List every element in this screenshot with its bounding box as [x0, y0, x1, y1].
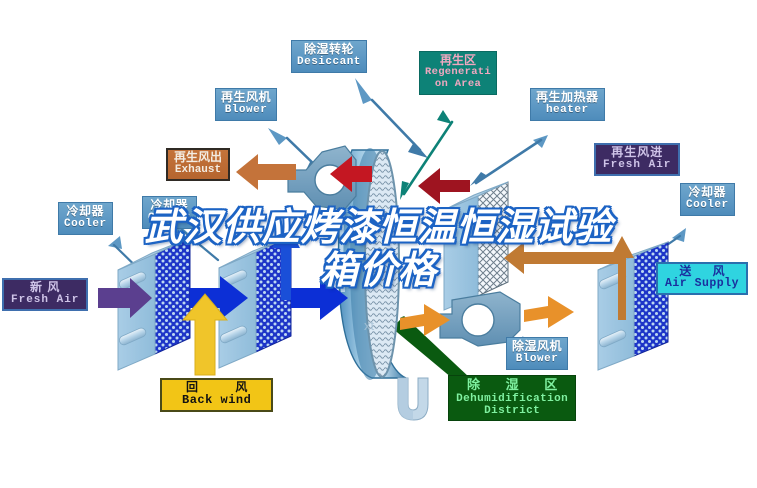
- wheel-watermark: xt: [364, 318, 375, 333]
- arrow-dehumid-blower-to-cooler3: [524, 296, 574, 328]
- label-dehumidification-district[interactable]: 除 湿 区 Dehumidification District: [448, 375, 576, 421]
- label-dehumidification-blower-cn: 除湿风机: [512, 340, 562, 353]
- label-regeneration-blower[interactable]: 再生风机 Blower: [215, 88, 277, 121]
- label-back-wind-cn: 回 风: [169, 381, 264, 394]
- label-regeneration-fresh-air[interactable]: 再生风进 Fresh Air: [594, 143, 680, 176]
- label-regeneration-exhaust-en: Exhaust: [174, 164, 222, 176]
- label-cooler-right[interactable]: 冷却器 Cooler: [680, 183, 735, 216]
- label-cooler-mid-en: Cooler: [148, 212, 191, 224]
- label-regeneration-heater-en: heater: [536, 104, 599, 116]
- label-back-wind-en: Back wind: [169, 394, 264, 407]
- label-regeneration-area-cn: 再生区: [425, 54, 491, 67]
- label-dehumidification-district-en1: Dehumidification: [456, 393, 568, 405]
- label-cooler-right-cn: 冷却器: [686, 186, 729, 199]
- label-cooler-left-cn: 冷却器: [64, 205, 107, 218]
- label-regeneration-fresh-air-en: Fresh Air: [603, 159, 671, 171]
- label-regeneration-exhaust-cn: 再生风出: [174, 151, 222, 164]
- label-cooler-mid[interactable]: 冷却器 Cooler: [142, 196, 197, 229]
- drain-duct: [398, 378, 428, 420]
- label-desiccant-wheel-cn: 除湿转轮: [297, 43, 361, 56]
- label-regeneration-blower-en: Blower: [221, 104, 271, 116]
- label-regeneration-fresh-air-cn: 再生风进: [603, 146, 671, 159]
- label-dehumidification-blower[interactable]: 除湿风机 Blower: [506, 337, 568, 370]
- label-cooler-left-en: Cooler: [64, 218, 107, 230]
- label-dehumidification-blower-en: Blower: [512, 353, 562, 365]
- label-regeneration-exhaust[interactable]: 再生风出 Exhaust: [166, 148, 230, 181]
- label-regeneration-area[interactable]: 再生区 Regenerati on Area: [419, 51, 497, 95]
- schematic-graphics: xt: [0, 0, 757, 488]
- label-cooler-mid-cn: 冷却器: [148, 199, 191, 212]
- label-regeneration-heater[interactable]: 再生加热器 heater: [530, 88, 605, 121]
- label-desiccant-wheel-en: Desiccant: [297, 56, 361, 68]
- regeneration-heater: [444, 182, 508, 310]
- label-air-supply-en: Air Supply: [665, 278, 739, 291]
- label-cooler-right-en: Cooler: [686, 199, 729, 211]
- label-dehumidification-district-en2: District: [456, 405, 568, 417]
- label-cooler-left[interactable]: 冷却器 Cooler: [58, 202, 113, 235]
- label-fresh-air-en: Fresh Air: [11, 294, 79, 306]
- label-dehumidification-district-cn: 除 湿 区: [456, 378, 568, 393]
- label-air-supply[interactable]: 送 风 Air Supply: [656, 262, 748, 295]
- label-regeneration-blower-cn: 再生风机: [221, 91, 271, 104]
- label-fresh-air-cn: 新 风: [11, 281, 79, 294]
- label-back-wind[interactable]: 回 风 Back wind: [160, 378, 273, 412]
- label-fresh-air[interactable]: 新 风 Fresh Air: [2, 278, 88, 311]
- label-desiccant-wheel[interactable]: 除湿转轮 Desiccant: [291, 40, 367, 73]
- label-regeneration-area-en2: on Area: [425, 79, 491, 91]
- arrow-heater-to-wheel: [418, 168, 470, 204]
- arrow-regen-blower-to-exhaust: [236, 154, 296, 190]
- diagram-canvas: xt: [0, 0, 757, 488]
- label-regeneration-heater-cn: 再生加热器: [536, 91, 599, 104]
- label-air-supply-cn: 送 风: [665, 265, 739, 278]
